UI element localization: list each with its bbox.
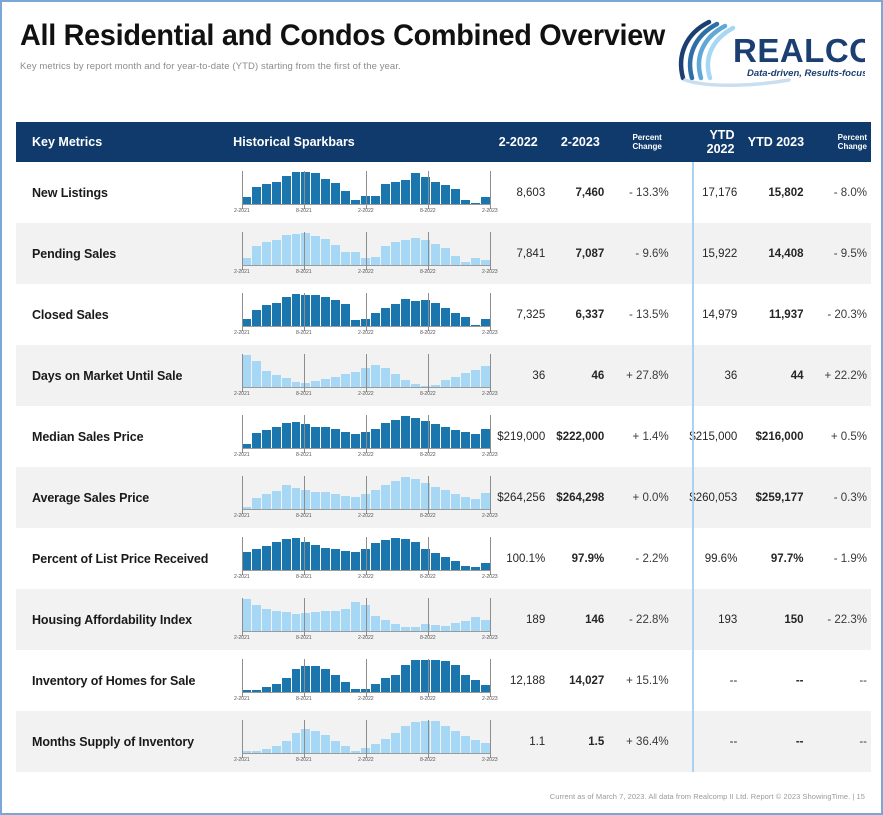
sparkbar-chart: 2-20218-20212-20228-20222-2023 (242, 599, 490, 641)
sparkbar-tick-label: 8-2021 (296, 208, 312, 214)
report-page: All Residential and Condos Combined Over… (0, 0, 883, 815)
value-ytd-2022: -- (675, 675, 738, 687)
sparkbar-bar (262, 609, 271, 631)
sparkbar-bar (341, 432, 350, 449)
sparkbar-bar (371, 365, 380, 388)
sparkbar-bar (331, 183, 340, 205)
sparkbar-tick-label: 8-2022 (420, 513, 436, 519)
sparkbar-bar (471, 434, 480, 448)
value-month-2022: 7,325 (490, 309, 545, 321)
sparkbar-bar (381, 368, 390, 387)
sparkbar-bar (471, 370, 480, 388)
sparkbar-bar (461, 736, 470, 753)
sparkbar-tick-label: 2-2021 (234, 635, 250, 641)
sparkbar-gridline (366, 598, 367, 636)
sparkbar-bar (431, 660, 440, 693)
sparkbar-gridline (490, 476, 491, 514)
value-percent-change-ytd: -- (804, 675, 872, 687)
sparkbar-tick-label: 8-2022 (420, 330, 436, 336)
sparkbar-gridline (242, 293, 243, 331)
sparkbar-bar (391, 304, 400, 326)
sparkbar-bar (431, 424, 440, 449)
sparkbar-gridline (428, 720, 429, 758)
sparkbar-bar (321, 669, 330, 692)
sparkbar-tick-label: 2-2021 (234, 269, 250, 275)
sparkbar-cell: 2-20218-20212-20228-20222-2023 (238, 721, 490, 763)
sparkbar-bar (311, 492, 320, 510)
sparkbar-bar (321, 548, 330, 571)
sparkbar-bar (341, 252, 350, 266)
sparkbar-tick-label: 2-2023 (482, 635, 498, 641)
sparkbar-chart: 2-20218-20212-20228-20222-2023 (242, 416, 490, 458)
sparkbar-bar (481, 366, 490, 388)
sparkbar-bar (311, 295, 320, 326)
sparkbar-chart: 2-20218-20212-20228-20222-2023 (242, 355, 490, 397)
sparkbar-bar (381, 485, 390, 510)
sparkbar-tick-label: 2-2022 (358, 330, 374, 336)
sparkbar-bar (331, 429, 340, 449)
column-separator (692, 711, 694, 772)
sparkbar-gridline (366, 659, 367, 697)
sparkbar-gridline (304, 659, 305, 697)
value-ytd-2022: 193 (675, 614, 738, 626)
sparkbar-bar (411, 479, 420, 509)
sparkbar-bar (461, 675, 470, 693)
sparkbar-bar (381, 540, 390, 571)
value-month-2023: 46 (545, 370, 604, 382)
sparkbar-bar (262, 242, 271, 266)
sparkbar-bar (282, 423, 291, 448)
sparkbar-bar (252, 549, 261, 570)
sparkbar-bar (262, 494, 271, 510)
sparkbar-bar (441, 185, 450, 205)
sparkbar-tick-label: 2-2022 (358, 452, 374, 458)
value-percent-change-month: + 27.8% (604, 370, 674, 382)
sparkbar-gridline (428, 354, 429, 392)
sparkbar-gridline (490, 659, 491, 697)
sparkbar-tick-label: 2-2023 (482, 208, 498, 214)
value-percent-change-month: + 36.4% (604, 736, 674, 748)
column-separator (692, 406, 694, 467)
sparkbar-bar (481, 429, 490, 449)
value-percent-change-month: - 2.2% (604, 553, 674, 565)
sparkbar-bar (252, 187, 261, 205)
sparkbar-bar (381, 246, 390, 266)
table-row: Average Sales Price2-20218-20212-20228-2… (16, 467, 871, 528)
sparkbar-bar (401, 477, 410, 510)
sparkbar-bar (282, 297, 291, 326)
sparkbar-gridline (490, 415, 491, 453)
metric-label: Closed Sales (16, 308, 238, 322)
sparkbar-bar (262, 305, 271, 326)
logo-tagline: Data-driven, Results-focused MLS (747, 68, 865, 79)
column-separator (692, 650, 694, 711)
sparkbar-bar (371, 429, 380, 449)
sparkbar-bar (371, 490, 380, 510)
sparkbar-bar (331, 549, 340, 570)
sparkbar-bar (431, 303, 440, 326)
sparkbar-bar (391, 182, 400, 204)
sparkbar-bar (401, 240, 410, 266)
sparkbar-bar (351, 602, 360, 632)
sparkbar-tick-label: 8-2021 (296, 391, 312, 397)
table-row: Inventory of Homes for Sale2-20218-20212… (16, 650, 871, 711)
sparkbar-bar (441, 427, 450, 449)
sparkbar-gridline (428, 659, 429, 697)
sparkbar-bar (341, 609, 350, 631)
sparkbar-bar (272, 611, 281, 632)
sparkbar-bar (331, 611, 340, 632)
value-percent-change-month: + 1.4% (604, 431, 674, 443)
sparkbar-tick-label: 2-2022 (358, 757, 374, 763)
value-ytd-2023: -- (737, 736, 803, 748)
sparkbar-bar (292, 172, 301, 205)
sparkbar-gridline (242, 354, 243, 392)
sparkbar-gridline (366, 232, 367, 270)
sparkbar-gridline (304, 537, 305, 575)
column-separator (692, 528, 694, 589)
sparkbar-gridline (304, 232, 305, 270)
value-percent-change-month: - 9.6% (604, 248, 674, 260)
sparkbar-chart: 2-20218-20212-20228-20222-2023 (242, 477, 490, 519)
value-month-2023: 7,087 (545, 248, 604, 260)
sparkbar-bar (411, 722, 420, 754)
sparkbar-ticks: 2-20218-20212-20228-20222-2023 (242, 696, 490, 706)
sparkbar-ticks: 2-20218-20212-20228-20222-2023 (242, 208, 490, 218)
sparkbar-bar (431, 244, 440, 265)
sparkbar-tick-label: 2-2023 (482, 513, 498, 519)
sparkbar-bar (242, 599, 251, 632)
sparkbar-gridline (366, 171, 367, 209)
realcomp-logo-icon: REALCOMP Data-driven, Results-focused ML… (669, 18, 865, 90)
column-header-percent-change-month: Percent Change (600, 133, 668, 151)
sparkbar-bar (321, 492, 330, 509)
sparkbar-bar (381, 423, 390, 448)
sparkbar-tick-label: 8-2021 (296, 574, 312, 580)
sparkbar-tick-label: 2-2023 (482, 269, 498, 275)
sparkbar-bar (431, 721, 440, 753)
value-percent-change-ytd: + 0.5% (804, 431, 872, 443)
sparkbar-gridline (366, 354, 367, 392)
column-separator (692, 162, 694, 223)
sparkbar-bar (451, 313, 460, 327)
sparkbar-gridline (428, 598, 429, 636)
sparkbar-bar (381, 184, 390, 205)
sparkbar-tick-label: 2-2022 (358, 269, 374, 275)
sparkbar-tick-label: 2-2021 (234, 452, 250, 458)
sparkbar-bar (401, 539, 410, 571)
sparkbar-gridline (242, 598, 243, 636)
sparkbar-bar (242, 355, 251, 388)
sparkbar-bar (311, 612, 320, 632)
value-month-2023: $264,298 (545, 492, 604, 504)
sparkbar-chart: 2-20218-20212-20228-20222-2023 (242, 538, 490, 580)
sparkbar-bar (401, 416, 410, 449)
value-ytd-2023: 11,937 (737, 309, 803, 321)
percent-change-line1: Percent (600, 133, 662, 142)
sparkbar-bar (471, 617, 480, 632)
sparkbar-gridline (428, 232, 429, 270)
sparkbar-bar (321, 735, 330, 754)
sparkbar-gridline (490, 293, 491, 331)
sparkbar-bar (321, 239, 330, 265)
sparkbar-tick-label: 2-2022 (358, 574, 374, 580)
sparkbar-cell: 2-20218-20212-20228-20222-2023 (238, 172, 490, 214)
sparkbar-bar (351, 552, 360, 571)
sparkbar-bar (401, 665, 410, 693)
value-ytd-2023: $259,177 (737, 492, 803, 504)
table-row: Percent of List Price Received2-20218-20… (16, 528, 871, 589)
sparkbar-cell: 2-20218-20212-20228-20222-2023 (238, 538, 490, 580)
sparkbar-bar (282, 176, 291, 204)
sparkbar-tick-label: 8-2021 (296, 452, 312, 458)
sparkbar-bar (252, 246, 261, 266)
sparkbar-bar (292, 614, 301, 632)
sparkbar-bar (311, 731, 320, 753)
sparkbar-tick-label: 8-2022 (420, 208, 436, 214)
sparkbar-tick-label: 8-2021 (296, 269, 312, 275)
table-row: Months Supply of Inventory2-20218-20212-… (16, 711, 871, 772)
metric-label: Months Supply of Inventory (16, 735, 238, 749)
sparkbar-gridline (428, 537, 429, 575)
value-ytd-2023: 15,802 (737, 187, 803, 199)
sparkbar-bar (451, 494, 460, 510)
sparkbar-gridline (304, 171, 305, 209)
column-separator (692, 284, 694, 345)
sparkbar-bar (311, 236, 320, 265)
sparkbar-ticks: 2-20218-20212-20228-20222-2023 (242, 635, 490, 645)
sparkbar-cell: 2-20218-20212-20228-20222-2023 (238, 477, 490, 519)
value-percent-change-ytd: - 1.9% (804, 553, 872, 565)
sparkbar-bar (272, 427, 281, 448)
value-ytd-2023: 97.7% (737, 553, 803, 565)
value-month-2022: 1.1 (490, 736, 545, 748)
sparkbar-bar (282, 612, 291, 632)
sparkbar-tick-label: 8-2022 (420, 757, 436, 763)
sparkbar-tick-label: 8-2022 (420, 635, 436, 641)
value-month-2023: 1.5 (545, 736, 604, 748)
sparkbar-bar (331, 245, 340, 265)
sparkbar-bar (311, 545, 320, 570)
metric-label: Percent of List Price Received (16, 552, 238, 566)
sparkbar-tick-label: 2-2022 (358, 513, 374, 519)
sparkbar-bar (441, 726, 450, 754)
sparkbar-bar (351, 434, 360, 449)
value-percent-change-ytd: + 22.2% (804, 370, 872, 382)
table-row: Median Sales Price2-20218-20212-20228-20… (16, 406, 871, 467)
sparkbar-bar (292, 733, 301, 754)
sparkbar-tick-label: 2-2023 (482, 696, 498, 702)
sparkbar-bar (321, 427, 330, 448)
sparkbar-tick-label: 8-2021 (296, 635, 312, 641)
sparkbar-bar (321, 297, 330, 326)
value-month-2023: 7,460 (545, 187, 604, 199)
value-ytd-2023: -- (737, 675, 803, 687)
value-percent-change-month: + 15.1% (604, 675, 674, 687)
sparkbar-gridline (304, 354, 305, 392)
sparkbar-bar (451, 189, 460, 204)
sparkbar-bar (272, 182, 281, 204)
sparkbar-cell: 2-20218-20212-20228-20222-2023 (238, 599, 490, 641)
value-month-2022: 189 (490, 614, 545, 626)
sparkbar-bar (252, 433, 261, 448)
sparkbar-bar (321, 611, 330, 631)
sparkbar-bar (341, 551, 350, 571)
sparkbar-bar (262, 430, 271, 448)
sparkbar-gridline (242, 171, 243, 209)
sparkbar-bar (371, 313, 380, 327)
sparkbar-gridline (366, 293, 367, 331)
value-month-2022: $264,256 (490, 492, 545, 504)
sparkbar-gridline (428, 415, 429, 453)
value-ytd-2022: -- (675, 736, 738, 748)
sparkbar-gridline (428, 293, 429, 331)
value-percent-change-month: - 13.3% (604, 187, 674, 199)
sparkbar-tick-label: 8-2021 (296, 696, 312, 702)
sparkbar-tick-label: 8-2022 (420, 391, 436, 397)
metric-label: Days on Market Until Sale (16, 369, 238, 383)
metric-label: Inventory of Homes for Sale (16, 674, 238, 688)
sparkbar-tick-label: 2-2022 (358, 208, 374, 214)
sparkbar-tick-label: 2-2021 (234, 574, 250, 580)
value-month-2022: 100.1% (490, 553, 545, 565)
sparkbar-gridline (490, 232, 491, 270)
table-header-row: Key Metrics Historical Sparkbars 2-2022 … (16, 122, 871, 162)
sparkbar-bar (311, 666, 320, 692)
sparkbar-ticks: 2-20218-20212-20228-20222-2023 (242, 513, 490, 523)
sparkbar-tick-label: 2-2021 (234, 391, 250, 397)
sparkbar-bar (451, 731, 460, 754)
sparkbar-bar (451, 665, 460, 693)
sparkbar-bar (371, 616, 380, 631)
column-header-ytd-2022: YTD 2022 (668, 128, 735, 156)
sparkbar-bar (391, 675, 400, 693)
sparkbar-cell: 2-20218-20212-20228-20222-2023 (238, 355, 490, 397)
sparkbar-bar (441, 661, 450, 693)
sparkbar-ticks: 2-20218-20212-20228-20222-2023 (242, 391, 490, 401)
sparkbar-tick-label: 8-2021 (296, 513, 312, 519)
sparkbar-cell: 2-20218-20212-20228-20222-2023 (238, 660, 490, 702)
value-ytd-2022: 15,922 (675, 248, 738, 260)
sparkbar-tick-label: 2-2023 (482, 391, 498, 397)
percent-change-line2: Change (600, 142, 662, 151)
sparkbar-bar (411, 542, 420, 571)
column-header-percent-change-ytd: Percent Change (804, 133, 871, 151)
sparkbar-gridline (304, 720, 305, 758)
sparkbar-bar (461, 432, 470, 449)
realcomp-logo: REALCOMP Data-driven, Results-focused ML… (669, 18, 865, 90)
sparkbar-bar (451, 430, 460, 449)
column-header-key-metrics: Key Metrics (16, 135, 233, 149)
sparkbar-gridline (242, 659, 243, 697)
column-header-month-2023: 2-2023 (538, 135, 600, 149)
metrics-table: Key Metrics Historical Sparkbars 2-2022 … (16, 122, 871, 772)
value-ytd-2022: 14,979 (675, 309, 738, 321)
sparkbar-bar (411, 301, 420, 327)
sparkbar-gridline (490, 720, 491, 758)
value-ytd-2022: $215,000 (675, 431, 738, 443)
sparkbar-tick-label: 2-2023 (482, 330, 498, 336)
sparkbar-bar (272, 303, 281, 326)
sparkbar-gridline (304, 415, 305, 453)
value-percent-change-ytd: -- (804, 736, 872, 748)
sparkbar-gridline (304, 476, 305, 514)
sparkbar-bar (391, 538, 400, 571)
sparkbar-bar (292, 488, 301, 509)
sparkbar-bar (431, 553, 440, 571)
value-month-2022: 12,188 (490, 675, 545, 687)
value-ytd-2023: $216,000 (737, 431, 803, 443)
sparkbar-tick-label: 2-2023 (482, 757, 498, 763)
sparkbar-bar (262, 371, 271, 388)
percent-change-ytd-line1: Percent (804, 133, 867, 142)
metric-label: Housing Affordability Index (16, 613, 238, 627)
sparkbar-bar (282, 678, 291, 693)
sparkbar-bar (401, 180, 410, 205)
sparkbar-bar (282, 539, 291, 571)
sparkbar-bar (272, 542, 281, 571)
sparkbar-tick-label: 2-2023 (482, 574, 498, 580)
sparkbar-tick-label: 8-2022 (420, 452, 436, 458)
sparkbar-tick-label: 8-2021 (296, 330, 312, 336)
sparkbar-bar (331, 494, 340, 509)
table-body: New Listings2-20218-20212-20228-20222-20… (16, 162, 871, 772)
value-ytd-2022: 99.6% (675, 553, 738, 565)
sparkbar-bar (391, 481, 400, 510)
metric-label: Median Sales Price (16, 430, 238, 444)
sparkbar-tick-label: 2-2022 (358, 391, 374, 397)
sparkbar-ticks: 2-20218-20212-20228-20222-2023 (242, 452, 490, 462)
column-separator (692, 589, 694, 650)
sparkbar-gridline (242, 415, 243, 453)
value-month-2023: 146 (545, 614, 604, 626)
sparkbar-gridline (242, 476, 243, 514)
sparkbar-gridline (490, 171, 491, 209)
sparkbar-cell: 2-20218-20212-20228-20222-2023 (238, 233, 490, 275)
metric-label: Pending Sales (16, 247, 238, 261)
sparkbar-bar (252, 310, 261, 327)
sparkbar-bar (341, 191, 350, 205)
sparkbar-tick-label: 2-2021 (234, 513, 250, 519)
sparkbar-bar (311, 427, 320, 449)
logo-wordmark: REALCOMP (733, 32, 865, 69)
sparkbar-ticks: 2-20218-20212-20228-20222-2023 (242, 269, 490, 279)
sparkbar-chart: 2-20218-20212-20228-20222-2023 (242, 294, 490, 336)
sparkbar-bar (431, 182, 440, 205)
value-month-2023: 6,337 (545, 309, 604, 321)
column-separator (692, 345, 694, 406)
sparkbar-cell: 2-20218-20212-20228-20222-2023 (238, 416, 490, 458)
sparkbar-gridline (366, 476, 367, 514)
column-header-ytd-2023: YTD 2023 (734, 135, 804, 149)
sparkbar-chart: 2-20218-20212-20228-20222-2023 (242, 660, 490, 702)
value-percent-change-ytd: - 8.0% (804, 187, 872, 199)
sparkbar-bar (441, 308, 450, 326)
sparkbar-bar (292, 669, 301, 692)
sparkbar-bar (311, 173, 320, 205)
sparkbar-bar (411, 418, 420, 449)
sparkbar-bar (371, 543, 380, 571)
value-ytd-2023: 14,408 (737, 248, 803, 260)
sparkbar-bar (431, 487, 440, 510)
sparkbar-bar (292, 422, 301, 449)
sparkbar-gridline (428, 171, 429, 209)
sparkbar-bar (351, 372, 360, 387)
sparkbar-bar (331, 675, 340, 693)
sparkbar-bar (381, 739, 390, 753)
sparkbar-bar (481, 493, 490, 510)
sparkbar-chart: 2-20218-20212-20228-20222-2023 (242, 172, 490, 214)
